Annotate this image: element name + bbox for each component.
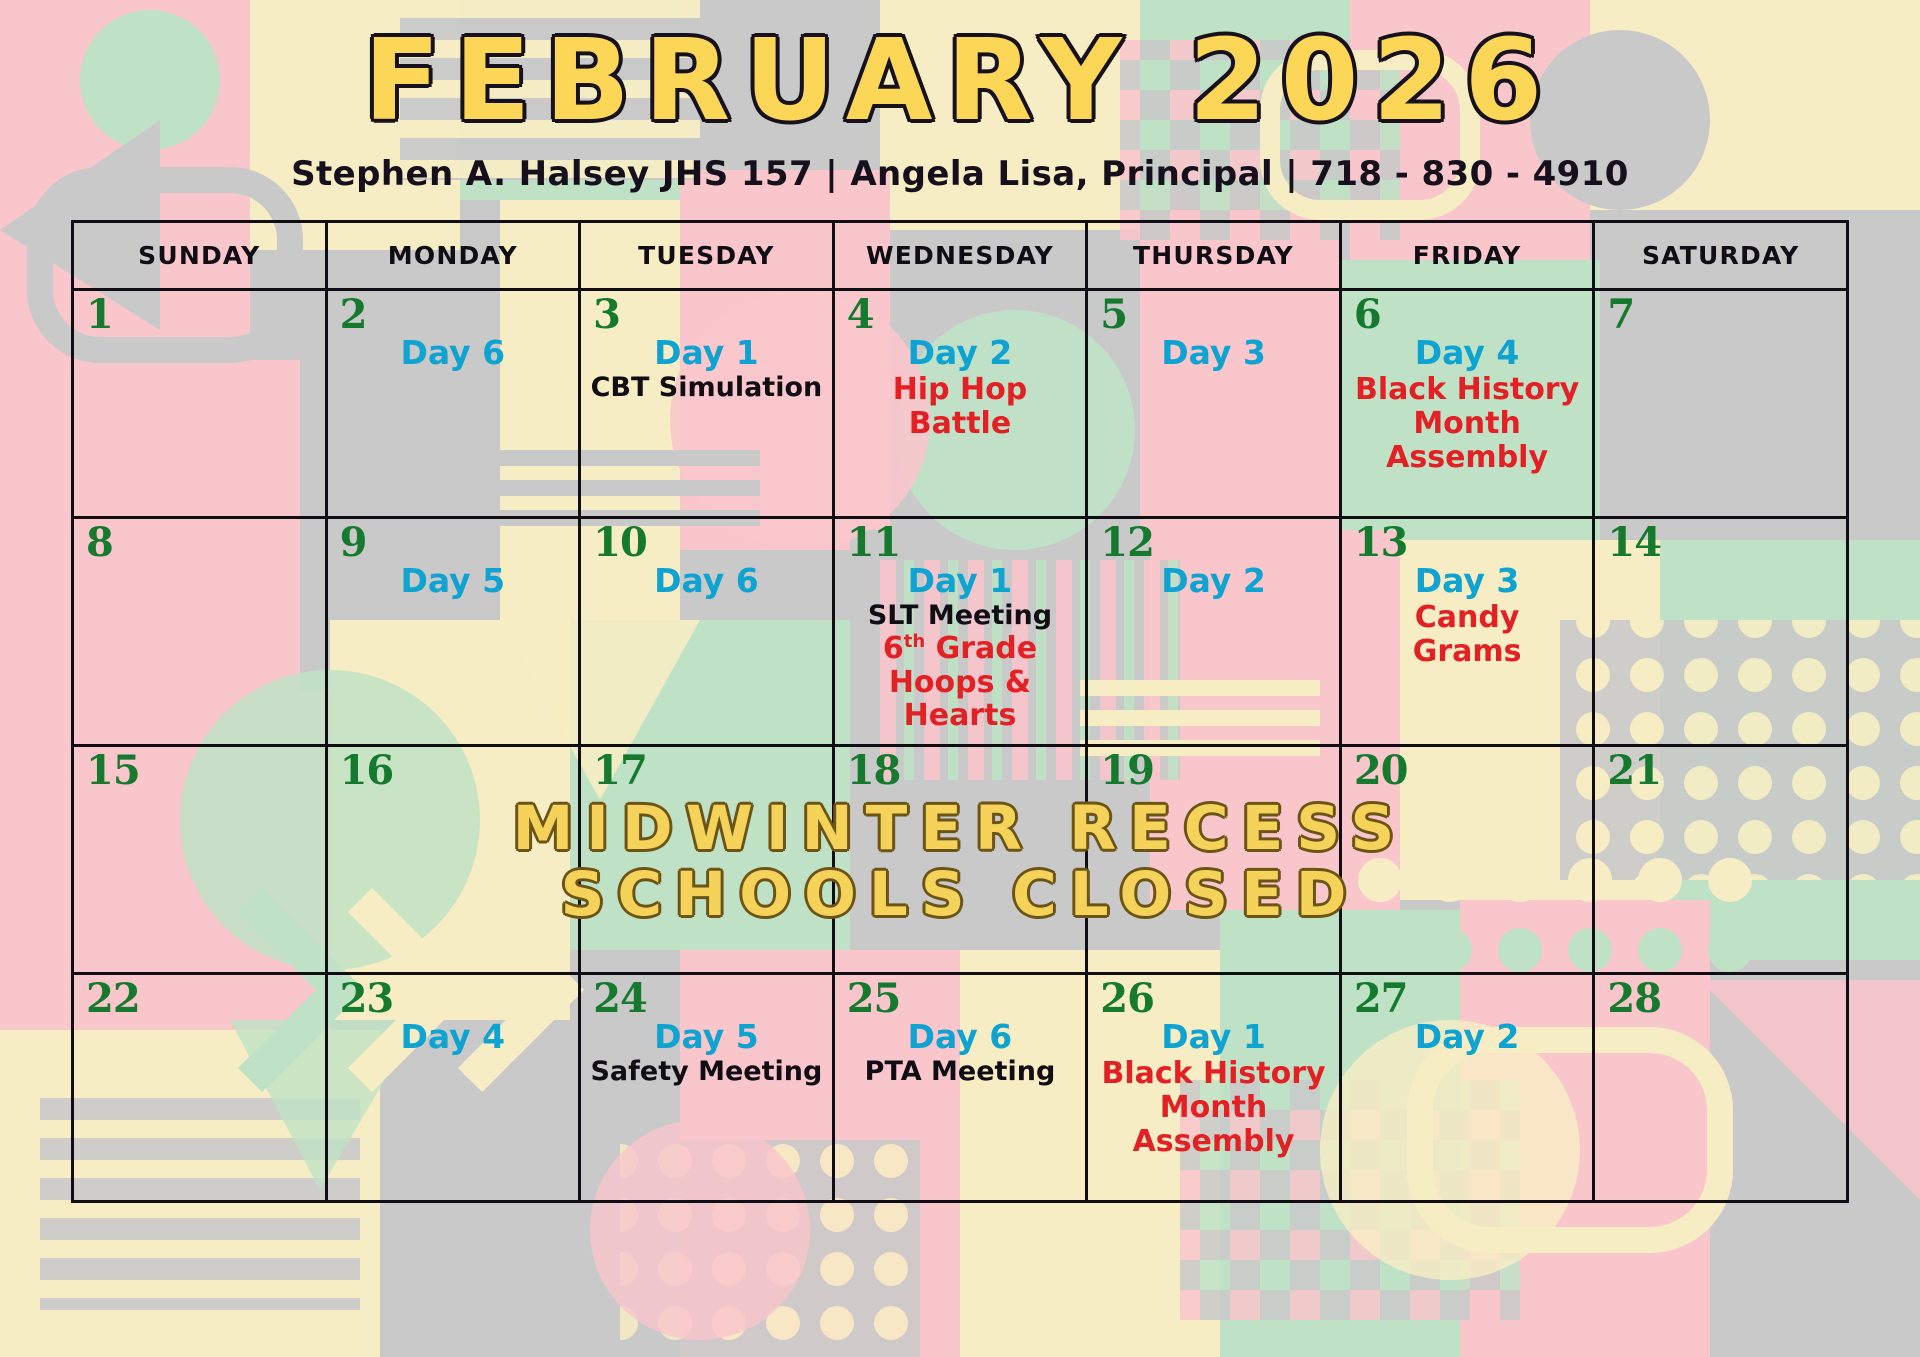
day-number: 5 xyxy=(1100,295,1127,335)
calendar-header: FEBRUARY 2026 Stephen A. Halsey JHS 157 … xyxy=(0,0,1920,194)
calendar-day-cell[interactable]: 18 xyxy=(833,746,1087,974)
calendar-day-cell[interactable]: 15 xyxy=(73,746,327,974)
day-number: 10 xyxy=(593,523,647,563)
day-number: 22 xyxy=(86,979,140,1019)
cycle-day-label: Day 5 xyxy=(589,1019,824,1055)
day-number: 7 xyxy=(1607,295,1634,335)
page-title: FEBRUARY 2026 xyxy=(0,24,1920,138)
calendar-table: SUNDAY MONDAY TUESDAY WEDNESDAY THURSDAY… xyxy=(71,220,1849,1203)
weekday-header-saturday: SATURDAY xyxy=(1594,222,1848,290)
calendar-day-cell[interactable]: 23Day 4 xyxy=(326,974,580,1202)
weekday-header-wednesday: WEDNESDAY xyxy=(833,222,1087,290)
calendar-day-cell[interactable]: 17 xyxy=(580,746,834,974)
calendar-day-cell[interactable]: 5Day 3 xyxy=(1087,290,1341,518)
day-number: 16 xyxy=(340,751,394,791)
cycle-day-label: Day 4 xyxy=(1350,335,1585,371)
calendar-week-row: 89Day 510Day 611Day 1SLT Meeting6th Grad… xyxy=(73,518,1848,746)
calendar-day-cell[interactable]: 10Day 6 xyxy=(580,518,834,746)
day-number: 14 xyxy=(1607,523,1661,563)
day-number: 27 xyxy=(1354,979,1408,1019)
calendar-container: SUNDAY MONDAY TUESDAY WEDNESDAY THURSDAY… xyxy=(71,220,1849,1203)
day-number: 8 xyxy=(86,523,113,563)
calendar-day-cell[interactable]: 4Day 2Hip HopBattle xyxy=(833,290,1087,518)
calendar-week-row: 15161718192021 xyxy=(73,746,1848,974)
cycle-day-label: Day 2 xyxy=(1096,563,1331,599)
weekday-header-thursday: THURSDAY xyxy=(1087,222,1341,290)
day-number: 11 xyxy=(847,523,901,563)
event-label: CBT Simulation xyxy=(589,373,824,403)
weekday-header-monday: MONDAY xyxy=(326,222,580,290)
event-label-highlight: Black History xyxy=(1350,373,1585,406)
calendar-week-row: 2223Day 424Day 5Safety Meeting25Day 6PTA… xyxy=(73,974,1848,1202)
calendar-day-cell[interactable]: 22 xyxy=(73,974,327,1202)
day-number: 3 xyxy=(593,295,620,335)
day-number: 24 xyxy=(593,979,647,1019)
calendar-day-cell[interactable]: 2Day 6 xyxy=(326,290,580,518)
cycle-day-label: Day 5 xyxy=(336,563,571,599)
event-label: Safety Meeting xyxy=(589,1057,824,1087)
day-number: 18 xyxy=(847,751,901,791)
event-label-highlight: Hip Hop xyxy=(843,373,1078,406)
calendar-day-cell[interactable]: 14 xyxy=(1594,518,1848,746)
weekday-header-friday: FRIDAY xyxy=(1340,222,1594,290)
event-label: PTA Meeting xyxy=(843,1057,1078,1087)
cycle-day-label: Day 3 xyxy=(1096,335,1331,371)
cycle-day-label: Day 3 xyxy=(1350,563,1585,599)
cycle-day-label: Day 2 xyxy=(843,335,1078,371)
calendar-day-cell[interactable]: 25Day 6PTA Meeting xyxy=(833,974,1087,1202)
day-number: 23 xyxy=(340,979,394,1019)
calendar-day-cell[interactable]: 12Day 2 xyxy=(1087,518,1341,746)
event-label-highlight: Hoops & Hearts xyxy=(843,666,1078,732)
calendar-day-cell[interactable]: 19 xyxy=(1087,746,1341,974)
event-label-highlight: Month xyxy=(1096,1091,1331,1124)
day-number: 1 xyxy=(86,295,113,335)
day-number: 2 xyxy=(340,295,367,335)
event-label-highlight: Grams xyxy=(1350,635,1585,668)
calendar-day-cell[interactable]: 13Day 3CandyGrams xyxy=(1340,518,1594,746)
event-label-highlight: Battle xyxy=(843,407,1078,440)
event-label-highlight: 6th Grade xyxy=(843,632,1078,665)
calendar-day-cell[interactable]: 9Day 5 xyxy=(326,518,580,746)
cycle-day-label: Day 1 xyxy=(589,335,824,371)
day-number: 21 xyxy=(1607,751,1661,791)
day-number: 17 xyxy=(593,751,647,791)
weekday-header-sunday: SUNDAY xyxy=(73,222,327,290)
calendar-day-cell[interactable]: 27Day 2 xyxy=(1340,974,1594,1202)
calendar-day-cell[interactable]: 3Day 1CBT Simulation xyxy=(580,290,834,518)
event-label-highlight: Month xyxy=(1350,407,1585,440)
day-number: 28 xyxy=(1607,979,1661,1019)
calendar-day-cell[interactable]: 6Day 4Black HistoryMonthAssembly xyxy=(1340,290,1594,518)
event-label-highlight: Candy xyxy=(1350,601,1585,634)
event-label: SLT Meeting xyxy=(843,601,1078,631)
cycle-day-label: Day 1 xyxy=(843,563,1078,599)
day-number: 6 xyxy=(1354,295,1381,335)
weekday-header-tuesday: TUESDAY xyxy=(580,222,834,290)
weekday-header-row: SUNDAY MONDAY TUESDAY WEDNESDAY THURSDAY… xyxy=(73,222,1848,290)
day-number: 26 xyxy=(1100,979,1154,1019)
cycle-day-label: Day 6 xyxy=(589,563,824,599)
event-label-highlight: Black History xyxy=(1096,1057,1331,1090)
calendar-day-cell[interactable]: 28 xyxy=(1594,974,1848,1202)
day-number: 4 xyxy=(847,295,874,335)
cycle-day-label: Day 1 xyxy=(1096,1019,1331,1055)
calendar-day-cell[interactable]: 1 xyxy=(73,290,327,518)
calendar-day-cell[interactable]: 16 xyxy=(326,746,580,974)
calendar-day-cell[interactable]: 21 xyxy=(1594,746,1848,974)
cycle-day-label: Day 2 xyxy=(1350,1019,1585,1055)
event-label-highlight: Assembly xyxy=(1096,1125,1331,1158)
day-number: 19 xyxy=(1100,751,1154,791)
day-number: 9 xyxy=(340,523,367,563)
calendar-week-row: 12Day 63Day 1CBT Simulation4Day 2Hip Hop… xyxy=(73,290,1848,518)
calendar-day-cell[interactable]: 11Day 1SLT Meeting6th GradeHoops & Heart… xyxy=(833,518,1087,746)
calendar-body: 12Day 63Day 1CBT Simulation4Day 2Hip Hop… xyxy=(73,290,1848,1202)
calendar-day-cell[interactable]: 26Day 1Black HistoryMonthAssembly xyxy=(1087,974,1341,1202)
day-number: 15 xyxy=(86,751,140,791)
cycle-day-label: Day 4 xyxy=(336,1019,571,1055)
day-number: 25 xyxy=(847,979,901,1019)
school-info-line: Stephen A. Halsey JHS 157 | Angela Lisa,… xyxy=(0,154,1920,194)
calendar-day-cell[interactable]: 20 xyxy=(1340,746,1594,974)
calendar-day-cell[interactable]: 8 xyxy=(73,518,327,746)
cycle-day-label: Day 6 xyxy=(336,335,571,371)
day-number: 20 xyxy=(1354,751,1408,791)
calendar-day-cell[interactable]: 7 xyxy=(1594,290,1848,518)
cycle-day-label: Day 6 xyxy=(843,1019,1078,1055)
event-label-highlight: Assembly xyxy=(1350,441,1585,474)
day-number: 13 xyxy=(1354,523,1408,563)
calendar-day-cell[interactable]: 24Day 5Safety Meeting xyxy=(580,974,834,1202)
day-number: 12 xyxy=(1100,523,1154,563)
